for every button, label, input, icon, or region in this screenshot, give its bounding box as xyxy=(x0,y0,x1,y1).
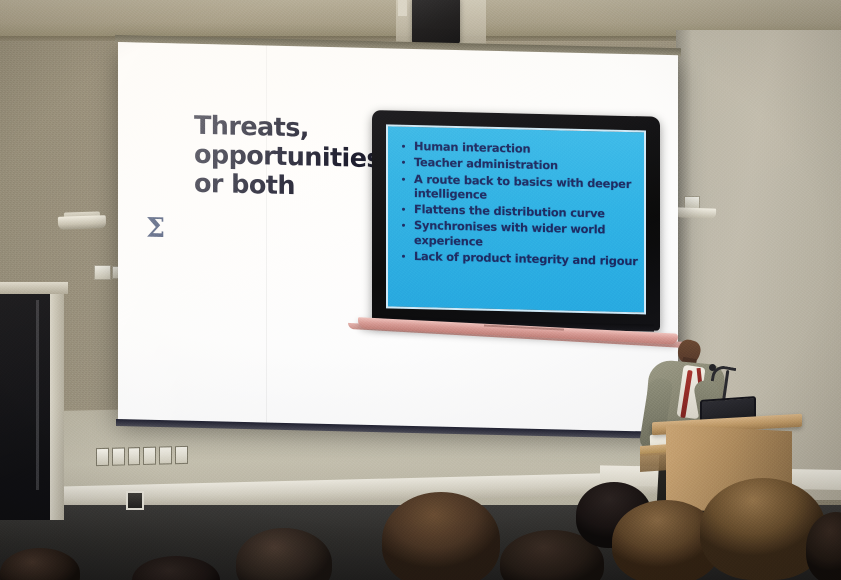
list-item: A route back to basics with deeper intel… xyxy=(398,171,638,205)
ceiling-projector-icon xyxy=(412,0,460,44)
power-outlet-icon[interactable] xyxy=(126,491,144,510)
laptop-screen: Human interaction Teacher administration… xyxy=(386,124,646,314)
door-edge xyxy=(36,300,39,490)
door-frame xyxy=(50,282,64,520)
door-lintel xyxy=(0,282,68,294)
laptop-graphic: Human interaction Teacher administration… xyxy=(372,110,664,367)
sigma-logo-icon: Σ xyxy=(146,215,165,242)
audience-head xyxy=(382,492,500,580)
light-switch[interactable] xyxy=(96,448,109,466)
projector-mount-stub xyxy=(398,0,407,16)
light-switch[interactable] xyxy=(112,447,125,465)
light-switch[interactable] xyxy=(143,447,156,465)
list-item: Lack of product integrity and rigour xyxy=(398,248,638,268)
bullet-list: Human interaction Teacher administration… xyxy=(398,139,638,271)
wall-speaker-right-icon xyxy=(676,207,716,218)
light-switch[interactable] xyxy=(175,446,188,464)
light-switch[interactable] xyxy=(128,447,141,465)
light-switch[interactable] xyxy=(159,446,172,464)
list-item: Synchronises with wider world experience xyxy=(398,218,638,252)
light-switch-bank[interactable] xyxy=(96,446,188,464)
wall-switch-left-a[interactable] xyxy=(94,265,111,280)
lecture-hall-photo: Σ Threats, opportunities or both Human i… xyxy=(0,0,841,580)
presentation-slide: Σ Threats, opportunities or both Human i… xyxy=(118,42,678,433)
laptop-lid: Human interaction Teacher administration… xyxy=(372,110,660,331)
wall-speaker-left-icon xyxy=(58,215,106,230)
projection-screen: Σ Threats, opportunities or both Human i… xyxy=(118,42,678,433)
